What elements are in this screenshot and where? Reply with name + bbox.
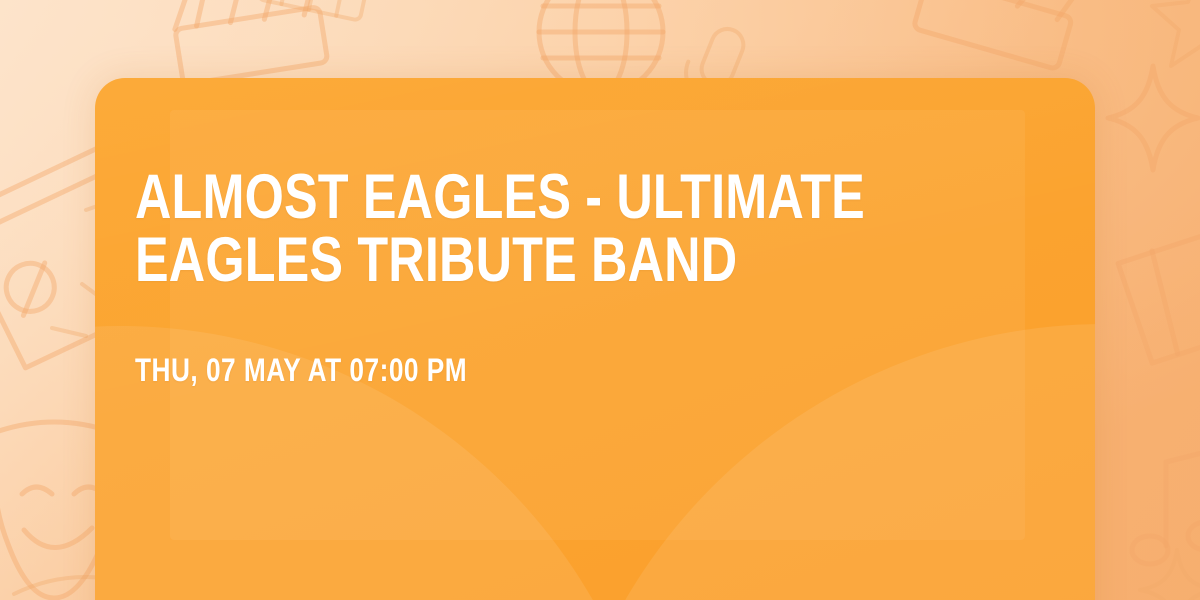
event-banner: Almost Eagles - Ultimate Eagles Tribute … (0, 0, 1200, 600)
card-content: Almost Eagles - Ultimate Eagles Tribute … (135, 166, 1055, 386)
event-card[interactable]: Almost Eagles - Ultimate Eagles Tribute … (95, 78, 1095, 600)
event-title: Almost Eagles - Ultimate Eagles Tribute … (135, 166, 1055, 292)
event-datetime: Thu, 07 May at 07:00 PM (135, 292, 1055, 386)
